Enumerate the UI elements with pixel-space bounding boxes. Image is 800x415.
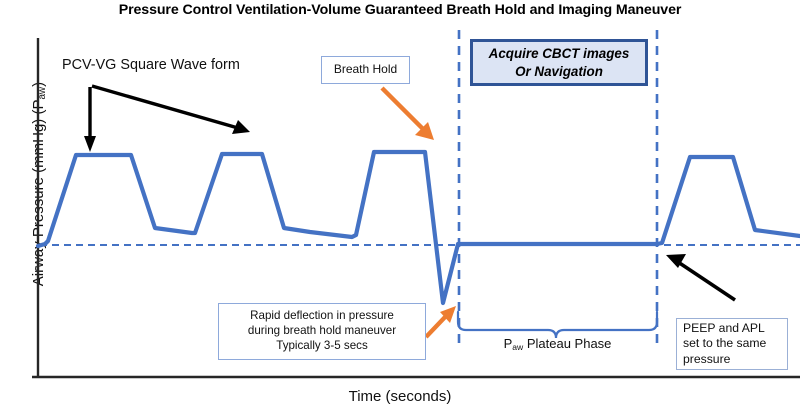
rapid-deflection-orange-arrow: [426, 306, 456, 337]
plateau-phase-brace: [458, 312, 657, 338]
rapid-deflection-line-1: Rapid deflection in pressure: [250, 309, 394, 322]
peep-apl-line-3: pressure: [683, 352, 730, 366]
rapid-deflection-line-3: Typically 3-5 secs: [276, 339, 368, 352]
peep-apl-line-2: set to the same: [683, 336, 766, 350]
pcv-vg-black-arrows: [84, 86, 250, 152]
breath-hold-orange-arrow: [382, 88, 434, 140]
airway-pressure-waveform: [38, 152, 800, 303]
breath-hold-callout-box: Breath Hold: [321, 56, 410, 84]
plateau-label-main: Plateau Phase: [527, 336, 612, 351]
rapid-deflection-callout-box: Rapid deflection in pressure during brea…: [218, 303, 426, 360]
figure-canvas: Pressure Control Ventilation-Volume Guar…: [0, 0, 800, 415]
peep-apl-text: PEEP and APL set to the same pressure: [683, 321, 766, 368]
cbct-line-1: Acquire CBCT images: [489, 46, 630, 61]
rapid-deflection-line-2: during breath hold maneuver: [248, 324, 396, 337]
peep-apl-line-1: PEEP and APL: [683, 321, 765, 335]
peep-apl-black-arrow: [666, 254, 735, 300]
rapid-deflection-text: Rapid deflection in pressure during brea…: [248, 309, 396, 353]
plateau-label-sub: aw: [512, 342, 523, 352]
cbct-text: Acquire CBCT images Or Navigation: [489, 45, 630, 81]
plateau-label-prefix: P: [504, 336, 513, 351]
cbct-line-2: Or Navigation: [515, 64, 603, 79]
peep-apl-callout-box: PEEP and APL set to the same pressure: [676, 318, 788, 370]
cbct-imaging-callout-box: Acquire CBCT images Or Navigation: [470, 39, 648, 86]
plateau-phase-label: Paw Plateau Phase: [455, 336, 660, 352]
